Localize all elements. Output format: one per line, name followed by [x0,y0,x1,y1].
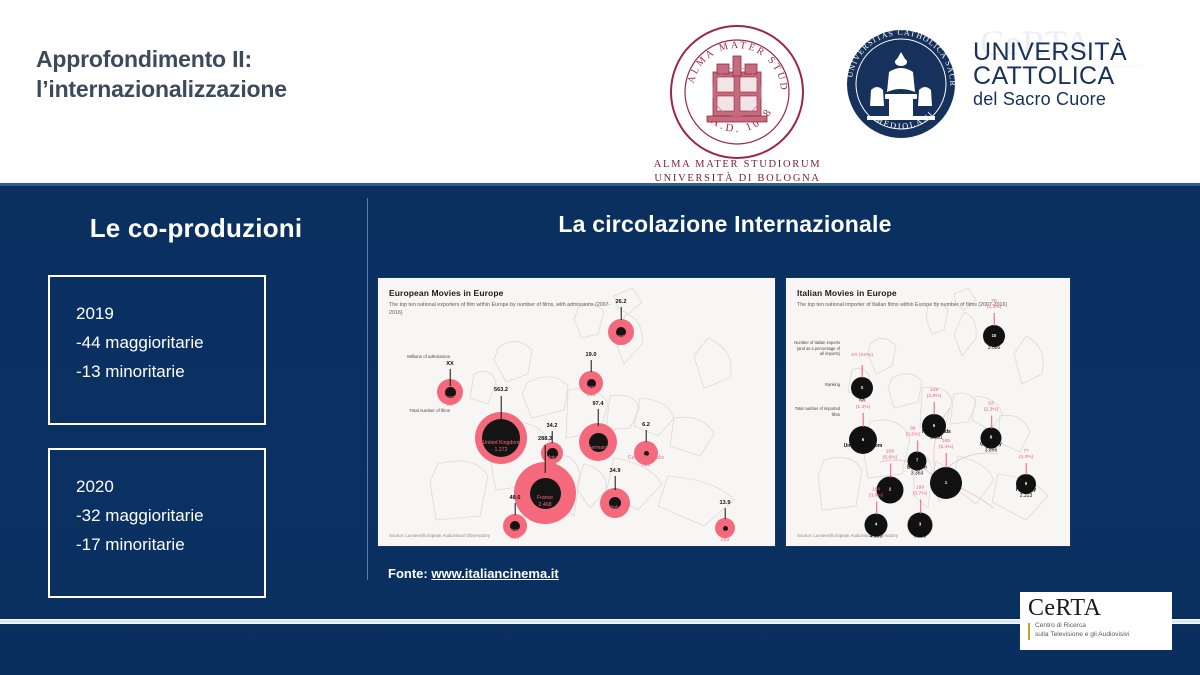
bubble-uk-admissions: 563.2 [494,387,508,393]
fonte-link[interactable]: www.italiancinema.it [431,566,558,581]
bubble-italy[interactable]: 34.9 Italy 764 [600,488,630,518]
donut-belgium-imports: 89 [910,427,915,432]
bubble-belgium-admissions: 34.2 [547,423,558,429]
certa-logo-sub: Centro di Ricerca sulla Televisione e gl… [1028,622,1172,640]
donut-uk-pct: (1,4%) [856,405,870,410]
chart-european-movies-in-europe[interactable]: European Movies in Europe The top ten na… [378,278,775,546]
donut-france-rank: 2 [889,488,891,492]
map1-title: European Movies in Europe [389,288,503,298]
bologna-name-line1: ALMA MATER STUDIORUM [645,158,830,172]
bubble-turkey-country: Turkey [717,530,733,537]
bubble-uk-country: United Kingdom [483,440,520,447]
bubble-italy-admissions: 34.9 [610,468,621,474]
donut-switzerland[interactable]: 1 345 (5,4%) Switzerland 6.392 [930,467,962,499]
bubble-denmark-country: Denmark [580,385,601,392]
donut-hungary-rank: 9 [1025,482,1027,486]
bubble-united-kingdom[interactable]: 563.2 United Kingdom 1.272 [475,412,527,464]
bubble-czech-republic[interactable]: 6.2 Czech Republic 382 [634,441,658,465]
map1-legend-films-label: Total number of films [396,408,450,414]
bubble-spain-admissions: 48.6 [510,495,521,501]
donut-portugal[interactable]: 4 168 (3,8%) Portugal 4.393 [865,514,888,537]
map2-legend-ranking-value: X [861,386,864,390]
bubble-czech-admissions: 6.2 [642,422,650,428]
donut-belgium[interactable]: 7 89 (2,6%) Belgium 3.363 [908,452,927,471]
slide-body: Le co-produzioni La circolazione Interna… [0,186,1200,675]
donut-france-pct: (5,6%) [883,456,897,461]
donut-germany[interactable]: 8 93 (2,3%) Germany 3.896 [981,428,1002,449]
map1-legend-admissions-value: XX [446,361,453,367]
bubble-germany-country: Germany [587,445,608,452]
bubble-italy-country: Italy [610,505,620,512]
donut-france-total: 4.577 [882,499,898,505]
donut-uk-imports: 94 [860,399,865,404]
donut-spain-pct: (3,7%) [913,492,927,497]
year-box-2020: 2020 -32 maggioritarie -17 minoritarie [48,448,266,598]
bubble-sweden-country: Sweden [612,334,631,341]
bubble-turkey-films: 289 [717,537,733,544]
certa-sub-line2: sulla Televisione e gli Audiovisivi [1035,631,1172,640]
map1-subtitle: The top ten national exporters of film w… [389,302,619,317]
bubble-sweden[interactable]: 26.2 Sweden 365 [608,319,634,345]
slide-header: Approfondimento II: l’internazionalizzaz… [0,0,1200,186]
donut-spain-imports: 199 [916,486,924,491]
bubble-france-films: 2.468 [537,502,553,509]
certa-accent-bar [1028,623,1030,640]
bubble-spain-films: 480 [508,535,521,542]
cattolica-name-line1: UNIVERSITÀ [973,40,1148,64]
donut-germany-pct: (2,3%) [984,408,998,413]
bubble-czech-country: Czech Republic [628,455,664,462]
bubble-turkey-admissions: 13.9 [720,500,731,506]
bubble-germany-admissions: 97.4 [593,401,604,407]
donut-germany-rank: 8 [990,436,992,440]
map1-legend-bubble: XX Country XX [437,379,463,405]
year-box-2019: 2019 -44 maggioritarie -13 minoritarie [48,275,266,425]
donut-germany-total: 3.896 [980,448,1002,454]
year-2019-line1: -44 maggioritarie [76,328,264,357]
bubble-france-country: France [537,495,553,502]
map2-title: Italian Movies in Europe [797,288,897,298]
bubble-belgium-country: Belgium [543,455,562,462]
donut-sweden-rank: 10 [992,334,997,338]
donut-united-kingdom[interactable]: 6 94 (1,4%) United Kingdom 6.411 [849,426,877,454]
bubble-spain-country: Spain [508,528,521,535]
donut-netherlands-imports: 149 [930,388,938,393]
map2-legend-donut: X XX (XX%) Country XX [851,377,873,399]
page-title: Approfondimento II: l’internazionalizzaz… [36,44,456,105]
certa-sub-line1: Centro di Ricerca [1035,622,1172,631]
bubble-denmark-films: 308 [580,392,601,399]
year-2020-line1: -32 maggioritarie [76,501,264,530]
bologna-seal-icon: ALMA MATER STUDIORUM A.D. 1088 [667,22,807,162]
certa-logo-name: CeRTA [1028,596,1172,620]
donut-hungary[interactable]: 9 77 (3,3%) Hungary 2.313 [1016,474,1036,494]
cattolica-name-line3: del Sacro Cuore [973,91,1148,108]
donut-spain-rank: 3 [919,523,921,527]
certa-logo: CeRTA Centro di Ricerca sulla Television… [1020,592,1172,650]
bubble-denmark-admissions: 19.0 [586,352,597,358]
map1-source: Source: Lumiere/European Audiovisual Obs… [389,533,490,538]
bubble-sweden-admissions: 26.2 [616,299,627,305]
fonte-line: Fonte: www.italiancinema.it [388,566,559,581]
bubble-turkey[interactable]: 13.9 Turkey 289 [715,518,735,538]
slide: Approfondimento II: l’internazionalizzaz… [0,0,1200,675]
bubble-spain[interactable]: 48.6 Spain 480 [503,514,527,538]
donut-portugal-pct: (3,8%) [869,494,883,499]
donut-uk-total: 6.411 [844,449,883,455]
donut-germany-imports: 93 [988,402,993,407]
bubble-germany-films: 1.321 [587,452,608,459]
map1-legend-country: Country [441,395,459,402]
donut-france-imports: 256 [886,450,894,455]
donut-switzerland-imports: 345 [942,439,950,444]
chart-italian-movies-in-europe[interactable]: Italian Movies in Europe The top ten nat… [786,278,1070,546]
donut-sweden[interactable]: 10 70 (2,3%) Sweden 3.086 [983,325,1005,347]
bubble-denmark[interactable]: 19.0 Denmark 308 [579,371,603,395]
bubble-sweden-films: 365 [612,341,631,348]
map2-legend-imports-label: Number of Italian imports (and as a perc… [792,340,840,357]
donut-portugal-imports: 168 [872,488,880,493]
donut-spain-total: 5.308 [913,534,927,540]
year-label-2019: 2019 [76,299,264,328]
donut-portugal-rank: 4 [875,523,877,527]
map2-legend-imports-value: XX [851,353,858,358]
bubble-italy-films: 764 [610,512,620,519]
donut-belgium-pct: (2,6%) [906,433,920,438]
donut-netherlands-pct: (2,9%) [927,394,941,399]
donut-sweden-imports: 70 [991,299,996,304]
donut-netherlands[interactable]: 5 149 (2,9%) Netherlands 5.091 [922,414,946,438]
donut-spain[interactable]: 3 199 (3,7%) Spain 5.308 [908,513,933,538]
map1-legend-admissions-label: Millions of admissions [398,354,450,360]
logo-bologna: ALMA MATER STUDIORUM A.D. 1088 [645,22,830,172]
year-label-2020: 2020 [76,472,264,501]
donut-belgium-rank: 7 [916,459,918,463]
bubble-germany[interactable]: 97.4 Germany 1.321 [579,423,617,461]
left-panel-title: Le co-produzioni [36,213,356,244]
column-divider [367,198,368,580]
donut-sweden-pct: (2,3%) [987,305,1001,310]
year-2019-line2: -13 minoritarie [76,357,264,386]
year-2020-line2: -17 minoritarie [76,530,264,559]
donut-switzerland-rank: 1 [945,481,947,485]
map2-legend-imports-pct: (XX%) [859,353,873,358]
page-title-line2: l’internazionalizzazione [36,74,456,104]
cattolica-name-line2: CATTOLICA [973,64,1148,88]
donut-switzerland-pct: (5,4%) [939,445,953,450]
donut-hungary-imports: 77 [1023,449,1028,454]
donut-belgium-total: 3.363 [907,471,927,477]
cattolica-seal-icon: UNIVERSITAS CATHOLICA SACRI CORDIS JESU … [845,28,957,140]
donut-portugal-total: 4.393 [866,534,886,540]
page-title-line1: Approfondimento II: [36,44,456,74]
right-panel-title: La circolazione Internazionale [380,211,1070,238]
map2-legend-total-label: Total number of imported films [792,406,840,417]
bubble-czech-films: 382 [628,462,664,469]
map2-legend-ranking-label: Ranking [792,382,840,388]
donut-uk-rank: 6 [862,438,864,442]
donut-hungary-total: 2.313 [1016,493,1036,499]
bubble-uk-films: 1.272 [483,447,520,454]
donut-netherlands-rank: 5 [933,424,935,428]
fonte-label: Fonte: [388,566,428,581]
donut-hungary-pct: (3,3%) [1019,455,1033,460]
logo-cattolica: UNIVERSITAS CATHOLICA SACRI CORDIS JESU … [845,20,1145,150]
donut-sweden-total: 3.086 [985,345,1004,351]
donut-switzerland-total: 6.392 [932,492,960,498]
bubble-france-admissions: 288.3 [538,436,552,442]
cattolica-logo-text: UNIVERSITÀ CATTOLICA del Sacro Cuore [973,40,1148,108]
